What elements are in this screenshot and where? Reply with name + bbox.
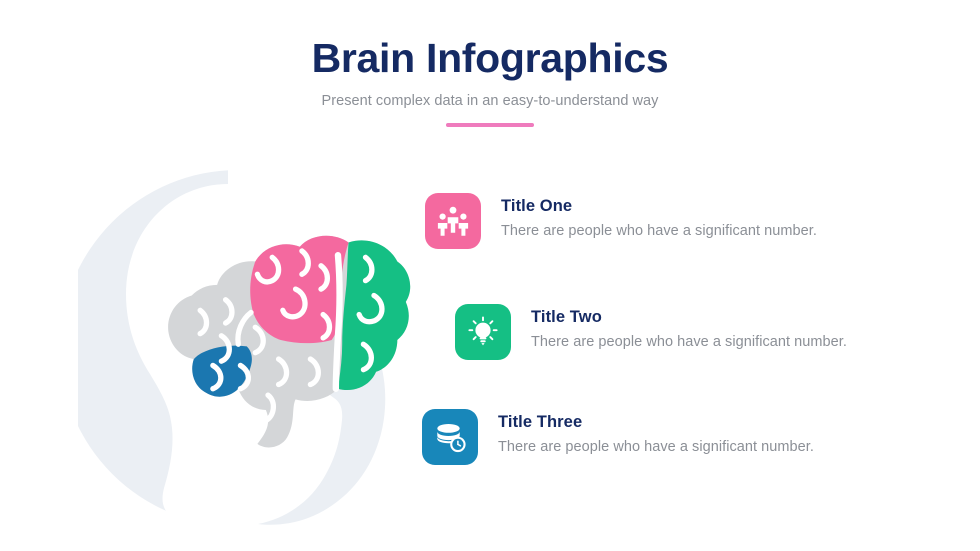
page-subtitle: Present complex data in an easy-to-under… [0,93,980,109]
people-group-icon [425,193,481,249]
list-item-description: There are people who have a significant … [498,438,814,457]
title-accent-bar [446,123,534,127]
lightbulb-icon [455,304,511,360]
list-item-description: There are people who have a significant … [531,333,847,352]
list-item-text: Title Two There are people who have a si… [531,304,847,352]
database-clock-icon [422,409,478,465]
list-item-title: Title One [501,197,817,217]
list-item-title: Title Three [498,413,814,433]
list-item[interactable]: Title Two There are people who have a si… [455,304,847,360]
list-item-text: Title One There are people who have a si… [501,193,817,241]
infographic-slide: Brain Infographics Present complex data … [0,0,980,551]
list-item[interactable]: Title Three There are people who have a … [422,409,814,465]
brain-head-illustration [78,168,418,528]
list-item-description: There are people who have a significant … [501,222,817,241]
page-title: Brain Infographics [0,36,980,82]
list-item-text: Title Three There are people who have a … [498,409,814,457]
slide-header: Brain Infographics Present complex data … [0,36,980,127]
list-item[interactable]: Title One There are people who have a si… [425,193,817,249]
list-item-title: Title Two [531,308,847,328]
